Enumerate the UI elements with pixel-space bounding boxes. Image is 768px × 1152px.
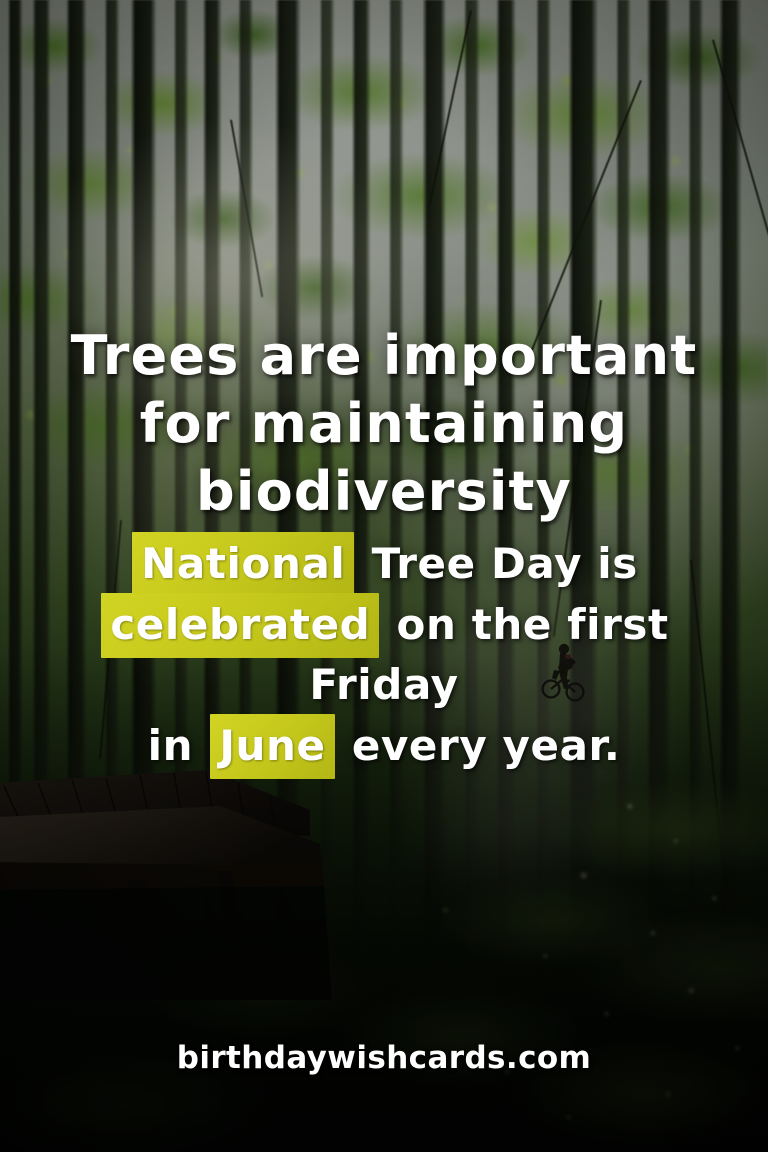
subline-line-2: celebrated on the first Friday (18, 595, 750, 716)
headline-line-3: biodiversity (196, 460, 572, 523)
highlight-june: June (210, 714, 334, 779)
highlight-celebrated: celebrated (101, 593, 379, 658)
headline-line-2: for maintaining (140, 392, 629, 455)
subline-line-3-plain-after: every year. (337, 721, 621, 770)
quote-block: Trees are importantfor maintainingbiodiv… (0, 322, 768, 776)
subline: National Tree Day is celebrated on the f… (18, 534, 750, 776)
subline-line-3: in June every year. (18, 716, 750, 776)
subline-line-1: National Tree Day is (18, 534, 750, 594)
quote-card: Trees are importantfor maintainingbiodiv… (0, 0, 768, 1152)
subline-line-1-plain: Tree Day is (356, 539, 637, 588)
watermark: birthdaywishcards.com (0, 1040, 768, 1076)
card-content: Trees are importantfor maintainingbiodiv… (0, 0, 768, 1152)
highlight-national: National (132, 532, 354, 597)
headline: Trees are importantfor maintainingbiodiv… (18, 322, 750, 526)
headline-line-1: Trees are important (71, 324, 698, 387)
subline-line-3-plain-before: in (148, 721, 209, 770)
